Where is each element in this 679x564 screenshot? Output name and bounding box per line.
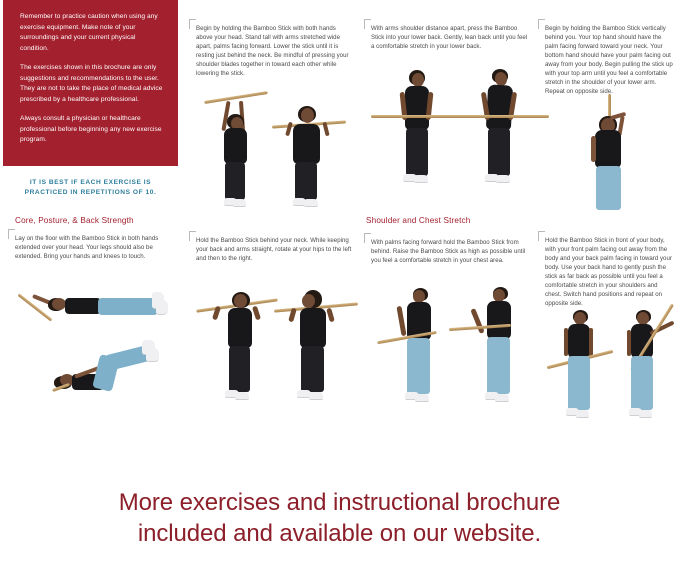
legs [568,356,590,410]
shoe-right [639,410,652,418]
photo-floor-crunch [8,278,183,408]
repetitions-note-line-1: IT IS BEST IF EACH EXERCISE IS [3,178,178,188]
instruction-torso-rotation: Hold the Bamboo Stick behind your neck. … [196,236,354,263]
head [52,298,66,310]
shoe-right [495,394,509,402]
torso [300,308,326,348]
head [234,294,247,308]
instruction-floor-crunch: Lay on the floor with the Bamboo Stick i… [15,234,173,261]
instruction-text: Begin by holding the Bamboo Stick with b… [196,25,349,77]
quote-bracket-icon [364,19,371,29]
arm-right [252,306,261,321]
arm-low [627,330,631,356]
figure-rotated-right [282,282,346,406]
figure-pose-a [389,68,451,198]
figure-pose-b [280,96,346,208]
shoe-right [414,175,428,183]
quote-bracket-icon [189,19,196,29]
figure-extended [10,286,180,332]
photo-chest-raise-behind [371,282,531,408]
quote-bracket-icon [189,231,196,241]
section-heading-core: Core, Posture, & Back Strength [15,216,134,225]
instruction-text: Begin by holding the Bamboo Stick vertic… [545,25,673,95]
figure-pose-a [391,286,453,406]
promo-line-2: included and available on our website. [0,518,679,549]
quote-bracket-icon [538,19,545,29]
shoe-right [309,392,323,400]
arm-left [564,328,568,356]
figure-pose-a [210,96,272,208]
instruction-overhead-press: Begin by holding the Bamboo Stick with b… [196,24,354,78]
figure-rotated-left [210,282,274,406]
bamboo-stick [204,91,268,104]
quote-bracket-icon [364,233,371,243]
torso [405,86,429,130]
arm-right [326,308,335,323]
figure-pose-b [471,68,533,198]
shoe-right [415,394,429,402]
section-heading-shoulder: Shoulder and Chest Stretch [366,216,471,225]
promo-line-1: More exercises and instructional brochur… [0,487,679,518]
figure-pose-b [619,308,677,418]
torso [228,308,252,348]
brochure-page: Remember to practice caution when using … [0,0,679,564]
instruction-chest-raise-behind: With palms facing forward hold the Bambo… [371,238,529,265]
instruction-text: With arms shoulder distance apart, press… [371,25,527,50]
legs [295,162,317,200]
figure-back-view [581,92,641,210]
shoe-right [156,300,168,315]
quote-bracket-icon [8,229,15,239]
arm-right [589,328,593,356]
torso [224,128,247,164]
bamboo-stick [449,115,549,118]
instruction-text: With palms facing forward hold the Bambo… [371,239,525,264]
shoe-right [233,199,246,207]
disclaimer-paragraph-2: The exercises shown in this brochure are… [20,63,164,105]
instruction-text: Hold the Bamboo Stick in front of your b… [545,237,672,307]
torso [65,298,101,314]
promo-text: More exercises and instructional brochur… [0,487,679,549]
shoe-right [576,410,589,418]
repetitions-note-line-2: PRACTICED IN REPETITIONS OF 10. [3,188,178,198]
photo-torso-rotation [196,278,356,408]
instruction-lower-back-lean: With arms shoulder distance apart, press… [371,24,529,51]
arm-back [470,308,484,334]
legs [406,128,428,176]
legs [301,346,324,392]
photo-overhead-press [196,92,356,210]
figure-pose-a [555,308,613,418]
head [301,108,314,123]
shoe-right [304,199,318,207]
legs [596,166,621,210]
shoe-right [235,392,249,400]
disclaimer-paragraph-1: Remember to practice caution when using … [20,12,164,54]
legs [229,346,250,392]
disclaimer-paragraph-3: Always consult a physician or healthcare… [20,114,164,146]
photo-vertical-shoulder-stretch [545,92,673,210]
instruction-front-push-back: Hold the Bamboo Stick in front of your b… [545,236,673,308]
instruction-vertical-shoulder-stretch: Begin by holding the Bamboo Stick vertic… [545,24,673,96]
head [412,73,424,87]
torso [293,124,320,164]
shoe-right [146,348,159,362]
legs [225,162,245,200]
torso [595,130,621,168]
shoe-right [496,175,510,183]
figure-pose-b [471,286,533,406]
photo-front-push-back [545,302,679,418]
arm-bottom [591,136,596,162]
repetitions-note: IT IS BEST IF EACH EXERCISE IS PRACTICED… [3,178,178,198]
quote-bracket-icon [538,231,545,241]
photo-lower-back-lean [371,62,531,210]
legs [631,356,653,410]
head [302,294,315,308]
figure-crunched [50,340,182,402]
legs [487,337,510,394]
disclaimer-panel: Remember to practice caution when using … [3,0,178,166]
instruction-text: Hold the Bamboo Stick behind your neck. … [196,237,351,262]
legs [488,128,510,176]
torso [568,324,590,358]
instruction-text: Lay on the floor with the Bamboo Stick i… [15,235,158,260]
legs [407,338,430,394]
torso [487,301,511,339]
legs [98,298,158,315]
arm-back [396,306,406,336]
